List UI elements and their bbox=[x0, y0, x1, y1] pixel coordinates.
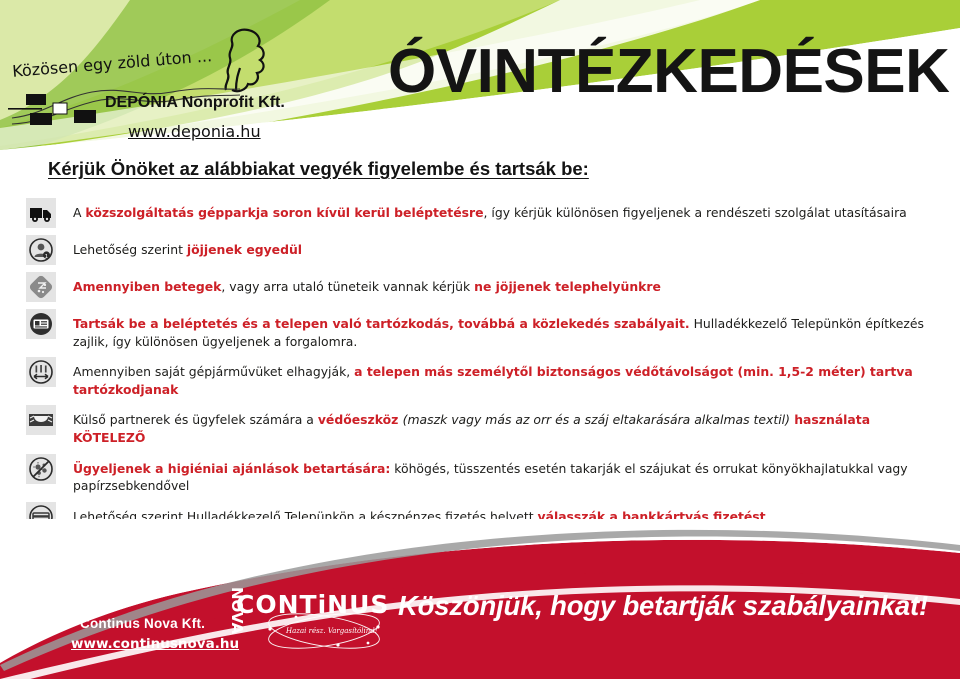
rule-text-8: Lehetőség szerint Hulladékkezelő Telepün… bbox=[73, 502, 936, 526]
rule-text-3: Amennyiben betegek, vagy arra utaló tüne… bbox=[73, 272, 936, 296]
page-title: ÓVINTÉZKEDÉSEK bbox=[388, 36, 949, 107]
no-virus-icon bbox=[26, 454, 56, 484]
truck-icon bbox=[26, 198, 56, 228]
continus-logo-slogan: Hazai rész. Vargasítólind! bbox=[285, 627, 378, 635]
deponia-logo: Közösen egy zöld úton ... DEPÓNIA Nonpro… bbox=[0, 18, 330, 138]
hourglass-icon bbox=[26, 539, 56, 569]
subtitle-instruction: Kérjük Önöket az alábbiakat vegyék figye… bbox=[48, 158, 589, 180]
social-distance-icon bbox=[26, 357, 56, 387]
rule-text-5: Amennyiben saját gépjárművüket elhagyják… bbox=[73, 357, 936, 398]
list-item: A várható sorban állás miatt kérjük türe… bbox=[26, 539, 936, 569]
face-mask-icon bbox=[26, 405, 56, 435]
list-item: Tartsák be a beléptetés és a telepen val… bbox=[26, 309, 936, 350]
road-markers-icon bbox=[8, 94, 96, 125]
credit-card-icon bbox=[26, 502, 56, 532]
list-item: 1 Lehetőség szerint jöjjenek egyedül bbox=[26, 235, 936, 265]
deponia-website-link[interactable]: www.deponia.hu bbox=[128, 122, 261, 141]
tree-outline-icon bbox=[226, 30, 264, 92]
poster-root: Közösen egy zöld úton ... DEPÓNIA Nonpro… bbox=[0, 0, 960, 679]
rule-text-4: Tartsák be a beléptetés és a telepen val… bbox=[73, 309, 936, 350]
rule-text-9: A várható sorban állás miatt kérjük türe… bbox=[73, 539, 936, 563]
list-item: Ügyeljenek a higiéniai ajánlások betartá… bbox=[26, 454, 936, 495]
deponia-logo-graphic bbox=[0, 18, 330, 138]
rule-text-1: A közszolgáltatás gépparkja soron kívül … bbox=[73, 198, 936, 222]
footer-thank-you-message: Köszönjük, hogy betartják szabályainkat! bbox=[398, 590, 928, 622]
list-item: Amennyiben saját gépjárművüket elhagyják… bbox=[26, 357, 936, 398]
rule-text-6: Külső partnerek és ügyfelek számára a vé… bbox=[73, 405, 936, 446]
continus-company-name: Continus Nova Kft. bbox=[80, 616, 205, 631]
rule-text-2: Lehetőség szerint jöjjenek egyedül bbox=[73, 235, 936, 259]
list-item: A közszolgáltatás gépparkja soron kívül … bbox=[26, 198, 936, 228]
continus-website-link[interactable]: www.continusnova.hu bbox=[71, 636, 239, 652]
deponia-company-name: DEPÓNIA Nonprofit Kft. bbox=[105, 94, 285, 112]
list-item: Lehetőség szerint Hulladékkezelő Telepün… bbox=[26, 502, 936, 532]
single-person-icon: 1 bbox=[26, 235, 56, 265]
svg-text:1: 1 bbox=[45, 254, 49, 260]
continus-nova-logo: CONTiNUS NOVA Hazai rész. Vargasítólind! bbox=[218, 567, 398, 657]
sick-person-icon bbox=[26, 272, 56, 302]
id-card-icon bbox=[26, 309, 56, 339]
list-item: Külső partnerek és ügyfelek számára a vé… bbox=[26, 405, 936, 446]
list-item: Amennyiben betegek, vagy arra utaló tüne… bbox=[26, 272, 936, 302]
rule-text-7: Ügyeljenek a higiéniai ajánlások betartá… bbox=[73, 454, 936, 495]
rules-list: A közszolgáltatás gépparkja soron kívül … bbox=[26, 198, 936, 576]
nova-logo-wordmark: NOVA bbox=[228, 587, 246, 634]
